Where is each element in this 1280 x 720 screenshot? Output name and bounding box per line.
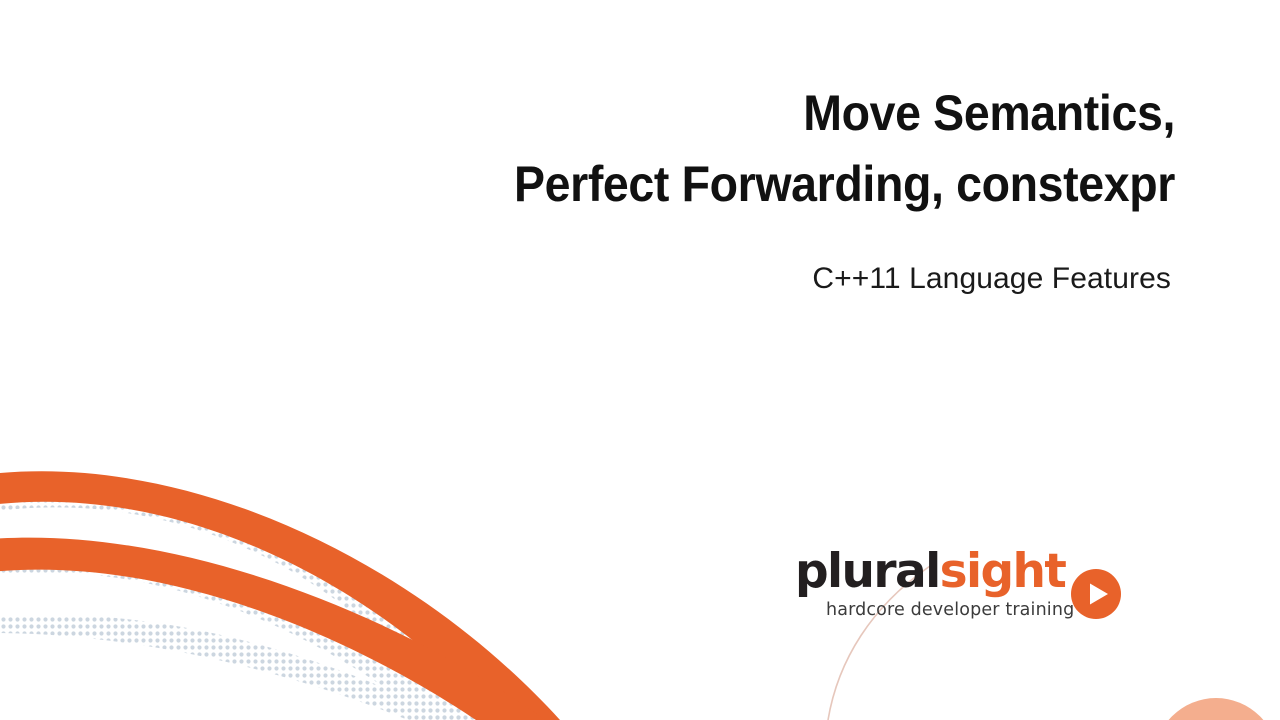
dotted-ribbon-upper (0, 450, 580, 720)
dotted-ribbon-middle (0, 500, 580, 720)
play-triangle-icon (1070, 568, 1122, 620)
logo-wordmark-plural: plural (795, 544, 940, 599)
dotted-ribbon-lower (0, 560, 580, 720)
corner-accent-circle (1154, 698, 1278, 720)
page-title: Move Semantics, Perfect Forwarding, cons… (268, 78, 1175, 220)
page-subtitle: C++11 Language Features (200, 220, 1175, 295)
logo-tagline: hardcore developer training (826, 600, 1074, 620)
logo-wordmark: pluralsight (795, 548, 1065, 595)
logo-wordmark-sight: sight (940, 544, 1066, 599)
presentation-slide: Move Semantics, Perfect Forwarding, cons… (0, 0, 1280, 720)
pluralsight-logo: pluralsight hardcore developer training (795, 548, 1125, 633)
orange-swoosh-lower (0, 538, 545, 720)
orange-swoosh-upper (0, 471, 560, 720)
title-block: Move Semantics, Perfect Forwarding, cons… (200, 78, 1175, 295)
